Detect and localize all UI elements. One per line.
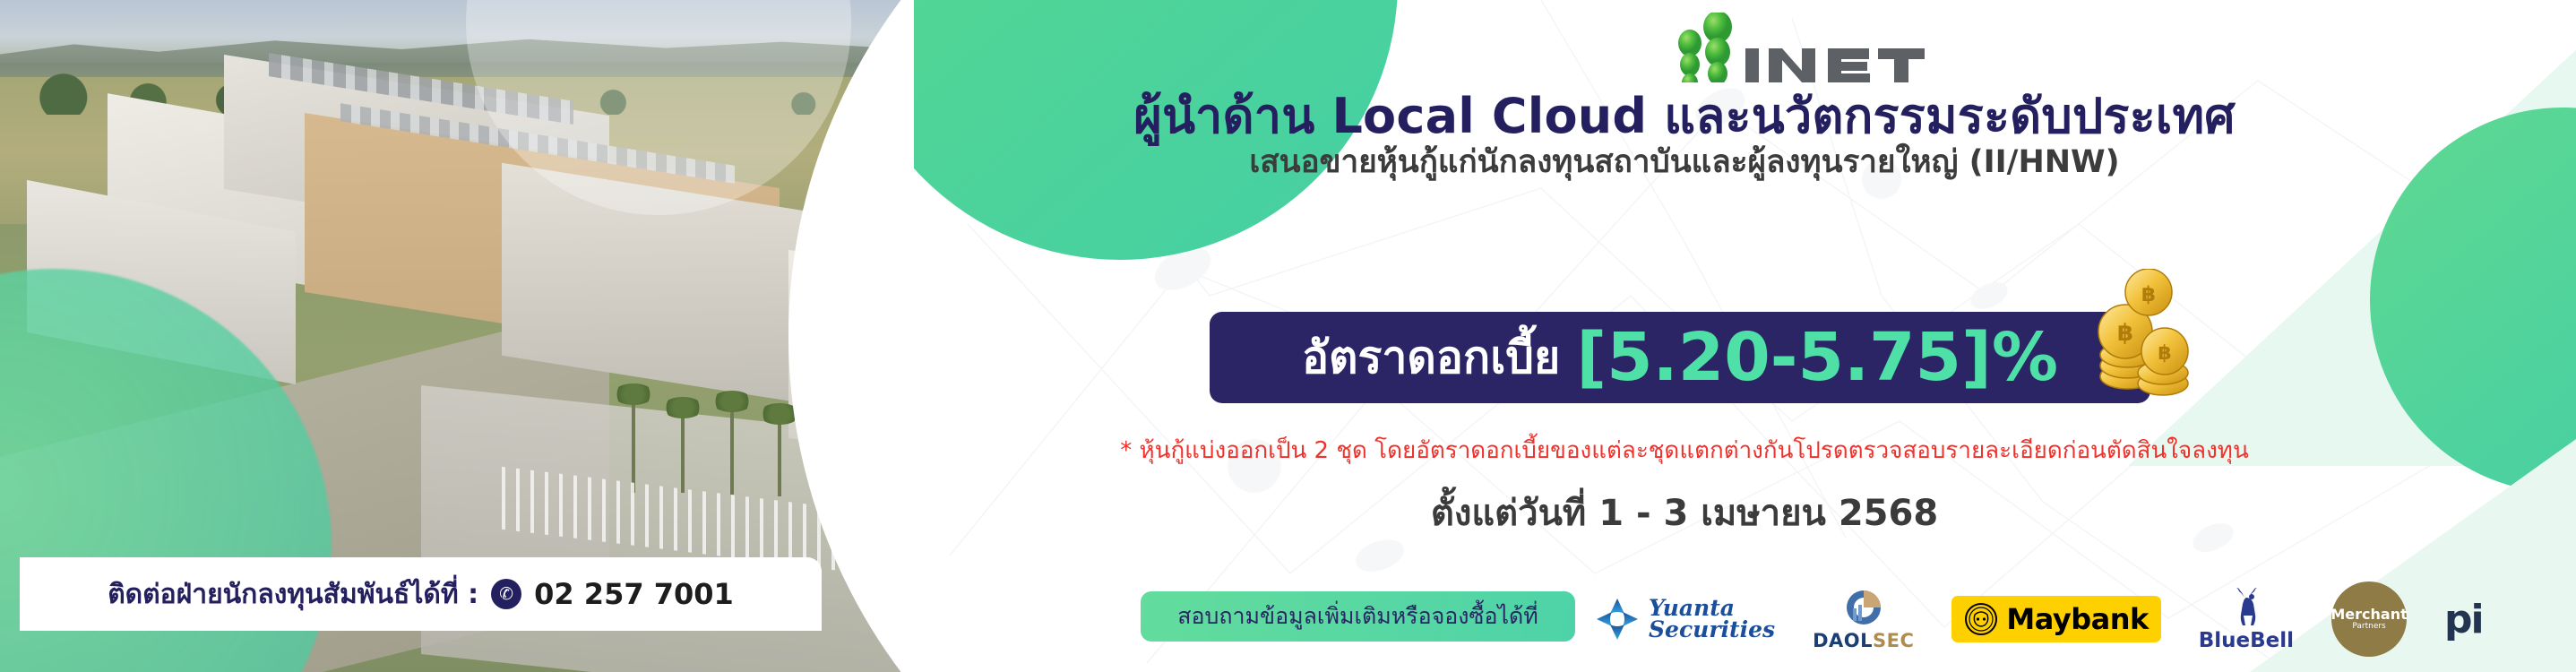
partner-logo-daol[interactable]: DAOLSEC [1813, 587, 1914, 651]
partner-logo-maybank[interactable]: Maybank [1951, 596, 2160, 642]
inet-logo [1667, 13, 1989, 82]
partner-logos: Yuanta Securities DAOLSEC [1595, 579, 2527, 659]
photo-palm-4 [778, 414, 781, 496]
daol-text-accent: SEC [1873, 630, 1914, 651]
contact-cta-button[interactable]: สอบถามข้อมูลเพิ่มเติมหรือจองซื้อได้ที่ [1141, 591, 1575, 642]
contact-phone[interactable]: 02 257 7001 [534, 577, 734, 611]
svg-text:฿: ฿ [2117, 320, 2133, 347]
maybank-text: Maybank [2006, 602, 2148, 636]
daol-text-main: DAOL [1813, 630, 1873, 651]
investor-relations-contact: ติดต่อฝ่ายนักลงทุนสัมพันธ์ได้ที่ : ✆ 02 … [20, 557, 822, 631]
partner-logo-merchant-partners[interactable]: Merchant Partners [2331, 582, 2407, 657]
bluebell-deer-icon [2227, 587, 2266, 628]
gold-coins-icon: ฿ ฿ ฿ [2081, 269, 2197, 403]
interest-rate-value: [5.20-5.75]% [1576, 324, 2058, 391]
disclaimer-text: * หุ้นกู้แบ่งออกเป็น 2 ชุด โดยอัตราดอกเบ… [914, 432, 2455, 469]
promo-content: ผู้นำด้าน Local Cloud และนวัตกรรมระดับปร… [914, 0, 2576, 672]
photo-palm-2 [681, 408, 685, 493]
photo-palm-3 [730, 401, 734, 495]
maybank-tiger-icon [1964, 602, 1998, 636]
yuanta-star-icon [1595, 597, 1640, 642]
inet-bond-promo-banner: ผู้นำด้าน Local Cloud และนวัตกรรมระดับปร… [0, 0, 2576, 672]
svg-text:฿: ฿ [2141, 283, 2156, 306]
partner-logo-yuanta[interactable]: Yuanta Securities [1595, 597, 1775, 642]
photo-palm-1 [632, 394, 635, 493]
interest-rate-box: อัตราดอกเบี้ย [5.20-5.75]% [1210, 312, 2150, 403]
merchant-line-2: Partners [2352, 623, 2385, 631]
yuanta-line-2: Securities [1649, 619, 1775, 641]
svg-text:฿: ฿ [2158, 342, 2171, 365]
offer-dates: ตั้งแต่วันที่ 1 - 3 เมษายน 2568 [914, 484, 2455, 541]
bluebell-text: BlueBell [2199, 629, 2294, 652]
page-subtitle: เสนอขายหุ้นกู้แก่นักลงทุนสถาบันและผู้ลงท… [914, 137, 2455, 186]
contact-cta-label: สอบถามข้อมูลเพิ่มเติมหรือจองซื้อได้ที่ [1177, 599, 1538, 634]
contact-label: ติดต่อฝ่ายนักลงทุนสัมพันธ์ได้ที่ : [108, 573, 478, 616]
daol-circle-icon [1840, 587, 1887, 628]
merchant-line-1: Merchant [2330, 607, 2407, 623]
partner-logo-bluebell[interactable]: BlueBell [2199, 587, 2294, 652]
pi-text: pi [2444, 597, 2483, 642]
phone-icon: ✆ [491, 579, 521, 609]
interest-rate-label: อัตราดอกเบี้ย [1302, 323, 1560, 393]
partner-logo-pi[interactable]: pi [2444, 597, 2483, 642]
